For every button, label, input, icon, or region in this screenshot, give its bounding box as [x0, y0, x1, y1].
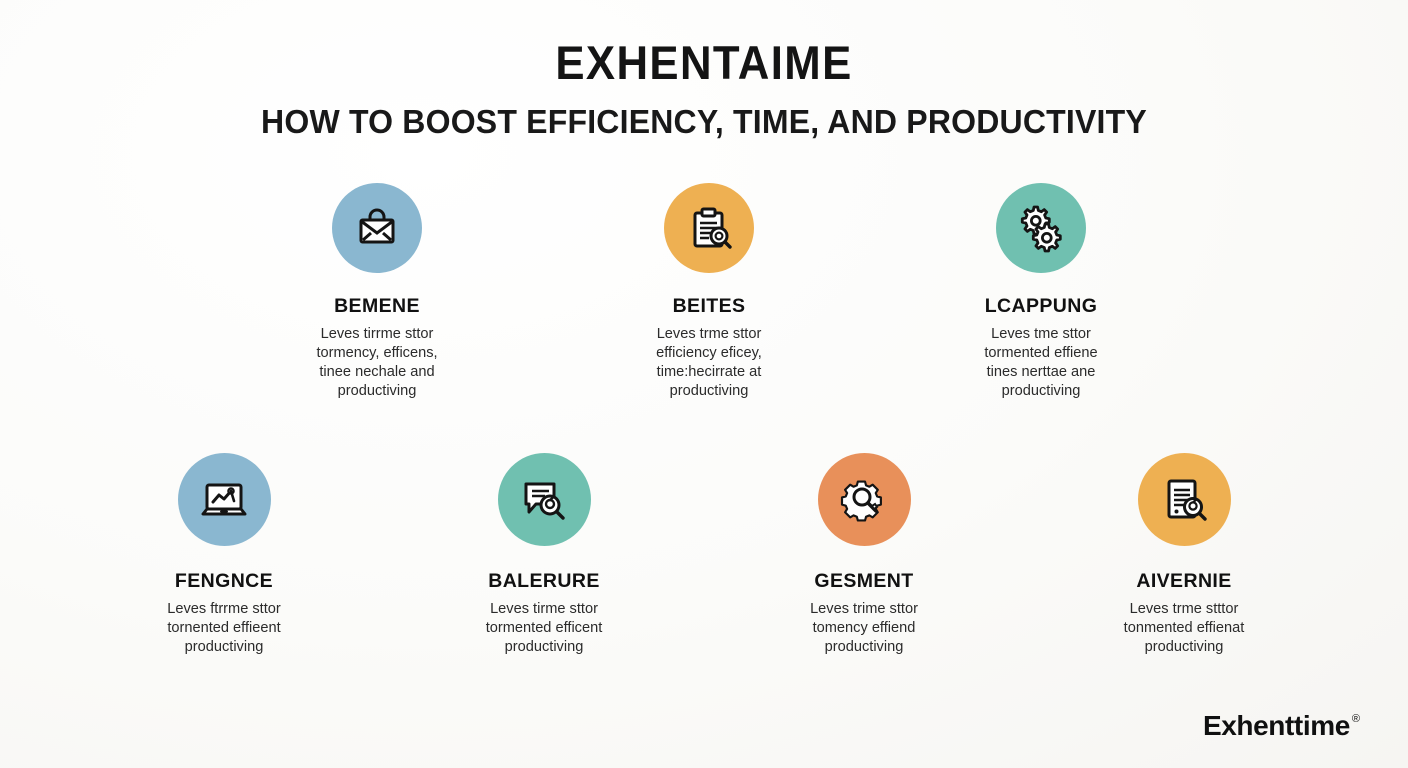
feature-card: LCAPPUNG Leves tme sttor tormented effie…	[945, 183, 1137, 401]
feature-body: Leves trime sttor tomency effiend produc…	[768, 600, 960, 657]
icon-badge-teal	[498, 453, 591, 546]
feature-card: FENGNCE Leves ftrrme sttor tornented eff…	[128, 453, 320, 657]
feature-card: BALERURE Leves tirme sttor tormented eff…	[448, 453, 640, 657]
briefcase-envelope-icon	[351, 202, 403, 254]
feature-card: BEMENE Leves tirrme sttor tormency, effi…	[281, 183, 473, 401]
feature-title: BEMENE	[281, 295, 473, 318]
gears-icon	[1015, 202, 1067, 254]
infographic-poster: EXHENTAIME HOW TO BOOST EFFICIENCY, TIME…	[0, 0, 1408, 768]
icon-badge-blue	[178, 453, 271, 546]
laptop-chart-icon	[197, 473, 251, 527]
feature-card: AIVERNIE Leves trme stttor tonmented eff…	[1088, 453, 1280, 657]
icon-badge-teal	[996, 183, 1086, 273]
icon-badge-blue	[332, 183, 422, 273]
feature-body: Leves trme stttor tonmented effienat pro…	[1088, 600, 1280, 657]
icon-wrap	[613, 183, 805, 273]
feature-body: Leves tirme sttor tormented efficent pro…	[448, 600, 640, 657]
feature-title: BEITES	[613, 295, 805, 318]
feature-body: Leves tme sttor tormented effiene tines …	[945, 325, 1137, 401]
clipboard-search-icon	[683, 202, 735, 254]
icon-badge-amber	[664, 183, 754, 273]
gear-search-icon	[837, 473, 891, 527]
feature-body: Leves ftrrme sttor tornented effieent pr…	[128, 600, 320, 657]
feature-title: GESMENT	[768, 570, 960, 593]
feature-title: FENGNCE	[128, 570, 320, 593]
brand-logo-text: Exhenttime	[1203, 710, 1350, 742]
icon-wrap	[945, 183, 1137, 273]
icon-wrap	[281, 183, 473, 273]
feature-row-two: FENGNCE Leves ftrrme sttor tornented eff…	[0, 453, 1408, 657]
feature-body: Leves trme sttor efficiency eficey, time…	[613, 325, 805, 401]
feature-card: GESMENT Leves trime sttor tomency effien…	[768, 453, 960, 657]
feature-title: LCAPPUNG	[945, 295, 1137, 318]
document-search-icon	[1157, 473, 1211, 527]
feature-title: AIVERNIE	[1088, 570, 1280, 593]
page-title: EXHENTAIME	[49, 38, 1358, 87]
icon-badge-orange	[818, 453, 911, 546]
chat-search-icon	[517, 473, 571, 527]
icon-wrap	[128, 453, 320, 546]
icon-wrap	[1088, 453, 1280, 546]
icon-wrap	[768, 453, 960, 546]
page-subtitle: HOW TO BOOST EFFICIENCY, TIME, AND PRODU…	[21, 103, 1387, 141]
feature-body: Leves tirrme sttor tormency, efficens, t…	[281, 325, 473, 401]
icon-wrap	[448, 453, 640, 546]
feature-card: BEITES Leves trme sttor efficiency efice…	[613, 183, 805, 401]
icon-badge-amber	[1138, 453, 1231, 546]
feature-row-one: BEMENE Leves tirrme sttor tormency, effi…	[0, 183, 1408, 401]
header: EXHENTAIME HOW TO BOOST EFFICIENCY, TIME…	[0, 0, 1408, 141]
brand-logo: Exhenttime ®	[1203, 710, 1360, 742]
feature-title: BALERURE	[448, 570, 640, 593]
registered-trademark-icon: ®	[1352, 713, 1360, 725]
